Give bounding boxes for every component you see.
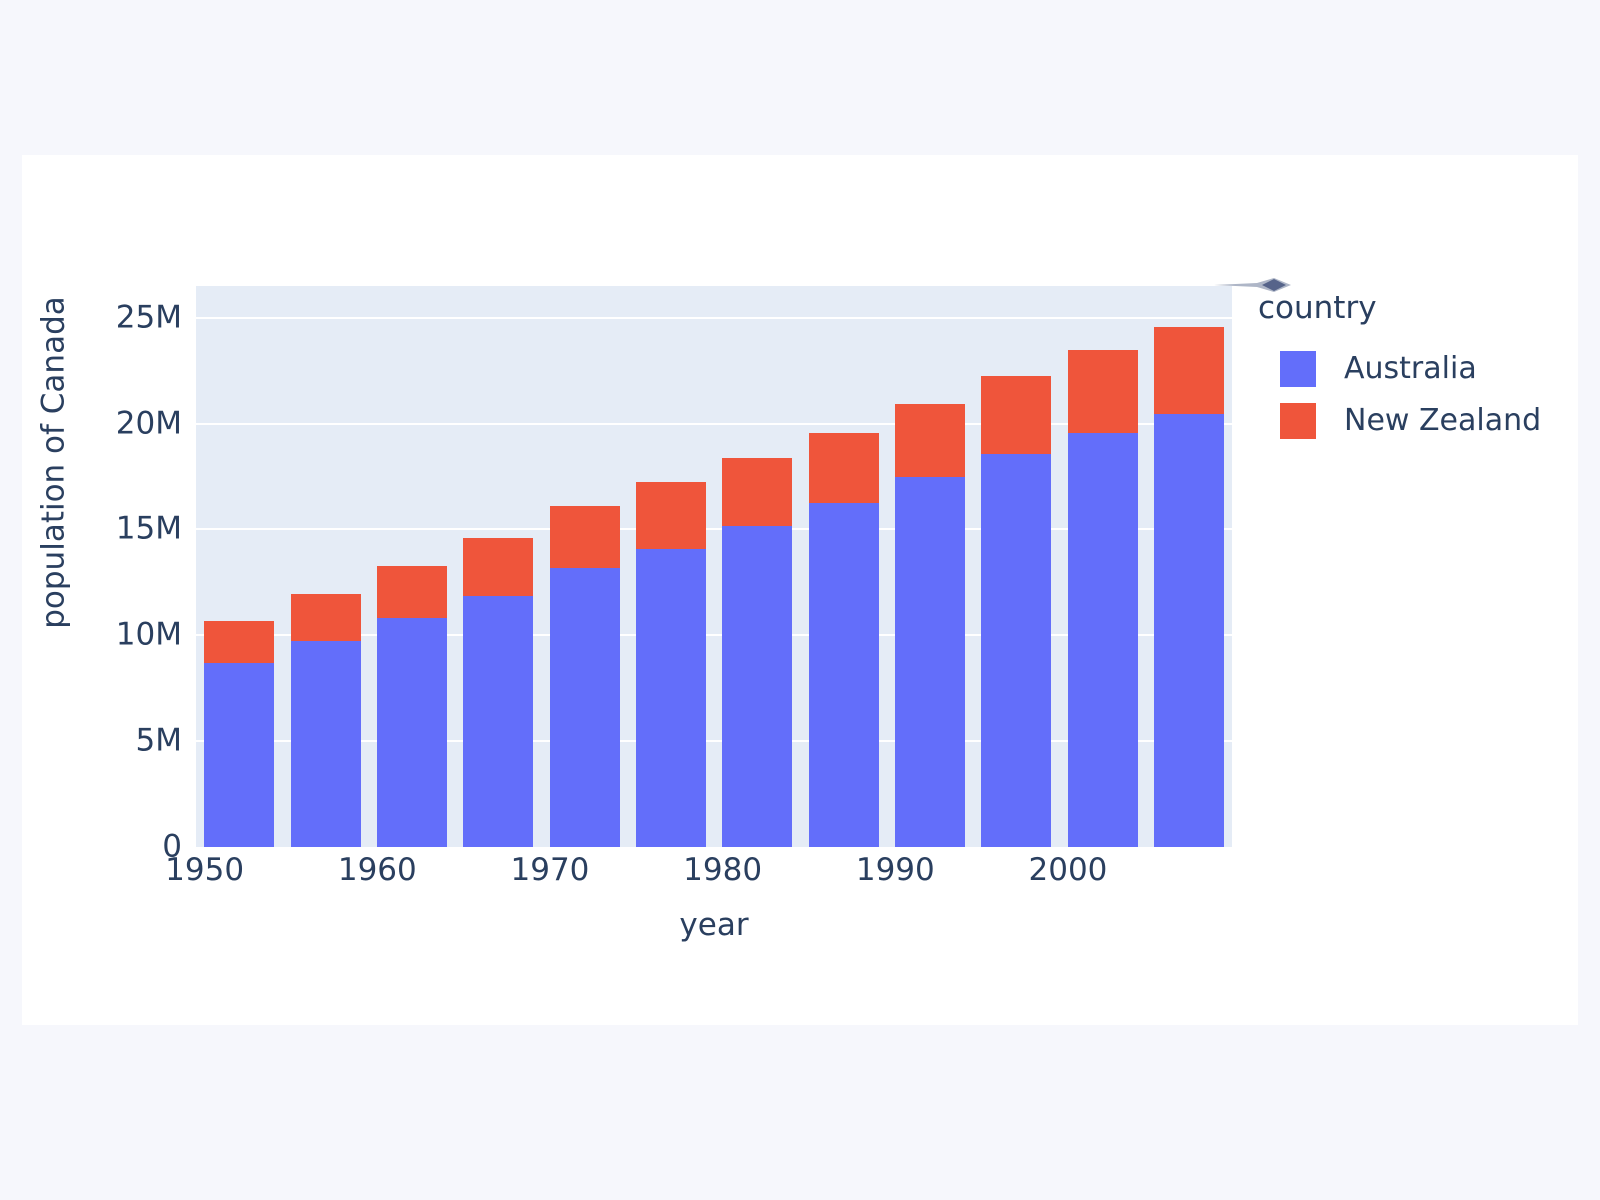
bar-segment-australia[interactable] [636, 549, 706, 847]
bar-segment-new-zealand[interactable] [204, 621, 274, 663]
y-axis-title: population of Canada [39, 223, 70, 703]
bar-group[interactable] [377, 286, 447, 847]
bar-segment-australia[interactable] [550, 568, 620, 847]
bar-segment-australia[interactable] [895, 477, 965, 847]
bar-segment-australia[interactable] [722, 526, 792, 847]
plotly-figure: 05M10M15M20M25M population of Canada 195… [22, 155, 1578, 1025]
x-axis-tick-label: 1970 [511, 855, 590, 886]
bar-group[interactable] [722, 286, 792, 847]
y-axis-tick-mark [186, 634, 196, 636]
bar-group[interactable] [895, 286, 965, 847]
bar-group[interactable] [809, 286, 879, 847]
legend-items: AustraliaNew Zealand [1256, 346, 1566, 444]
bar-segment-new-zealand[interactable] [636, 482, 706, 549]
bars-layer [196, 286, 1232, 847]
bar-group[interactable] [636, 286, 706, 847]
bar-group[interactable] [550, 286, 620, 847]
y-axis-tick-mark [186, 317, 196, 319]
bar-segment-new-zealand[interactable] [463, 538, 533, 596]
y-axis-tick-mark [186, 423, 196, 425]
bar-segment-new-zealand[interactable] [1154, 327, 1224, 414]
x-axis-tick-label: 1960 [338, 855, 417, 886]
bar-group[interactable] [1068, 286, 1138, 847]
bar-segment-new-zealand[interactable] [809, 433, 879, 503]
bar-segment-new-zealand[interactable] [981, 376, 1051, 454]
bar-segment-australia[interactable] [981, 454, 1051, 847]
y-axis-tick-label: 10M [116, 620, 196, 651]
bar-segment-australia[interactable] [463, 596, 533, 847]
y-axis-tick-mark [186, 740, 196, 742]
x-axis-tick-label: 1980 [683, 855, 762, 886]
bar-segment-new-zealand[interactable] [377, 566, 447, 619]
bar-segment-australia[interactable] [809, 503, 879, 847]
bar-group[interactable] [463, 286, 533, 847]
bar-segment-new-zealand[interactable] [291, 594, 361, 641]
legend-swatch-icon [1280, 403, 1316, 439]
bar-segment-new-zealand[interactable] [722, 458, 792, 526]
plot-area[interactable] [196, 286, 1232, 847]
y-axis-tick-mark [186, 528, 196, 530]
bar-segment-new-zealand[interactable] [895, 404, 965, 477]
x-axis-title: year [196, 910, 1232, 941]
bar-group[interactable] [291, 286, 361, 847]
legend-item-label: Australia [1344, 354, 1477, 384]
chart-card: 05M10M15M20M25M population of Canada 195… [22, 155, 1578, 1025]
bar-segment-australia[interactable] [1154, 414, 1224, 847]
y-axis-tick-label: 20M [116, 408, 196, 439]
bar-segment-new-zealand[interactable] [550, 506, 620, 568]
legend-item-label: New Zealand [1344, 406, 1541, 436]
x-axis-tick-label: 1950 [165, 855, 244, 886]
x-axis-tick-label: 1990 [856, 855, 935, 886]
y-axis-tick-label: 15M [116, 514, 196, 545]
bar-segment-australia[interactable] [204, 663, 274, 847]
y-axis-tick-mark [186, 846, 196, 848]
bar-segment-new-zealand[interactable] [1068, 350, 1138, 433]
x-axis-tick-label: 2000 [1029, 855, 1108, 886]
bar-group[interactable] [204, 286, 274, 847]
bar-segment-australia[interactable] [377, 618, 447, 847]
legend-title: country [1258, 293, 1566, 324]
legend-item-new-zealand[interactable]: New Zealand [1256, 398, 1566, 444]
bar-segment-australia[interactable] [291, 641, 361, 847]
legend-swatch-icon [1280, 351, 1316, 387]
x-axis-ticks: 195019601970198019902000 [196, 847, 1232, 907]
legend: country AustraliaNew Zealand [1256, 293, 1566, 450]
bar-group[interactable] [981, 286, 1051, 847]
y-axis-tick-label: 25M [116, 302, 196, 333]
legend-item-australia[interactable]: Australia [1256, 346, 1566, 392]
bar-group[interactable] [1154, 286, 1224, 847]
bar-segment-australia[interactable] [1068, 433, 1138, 847]
